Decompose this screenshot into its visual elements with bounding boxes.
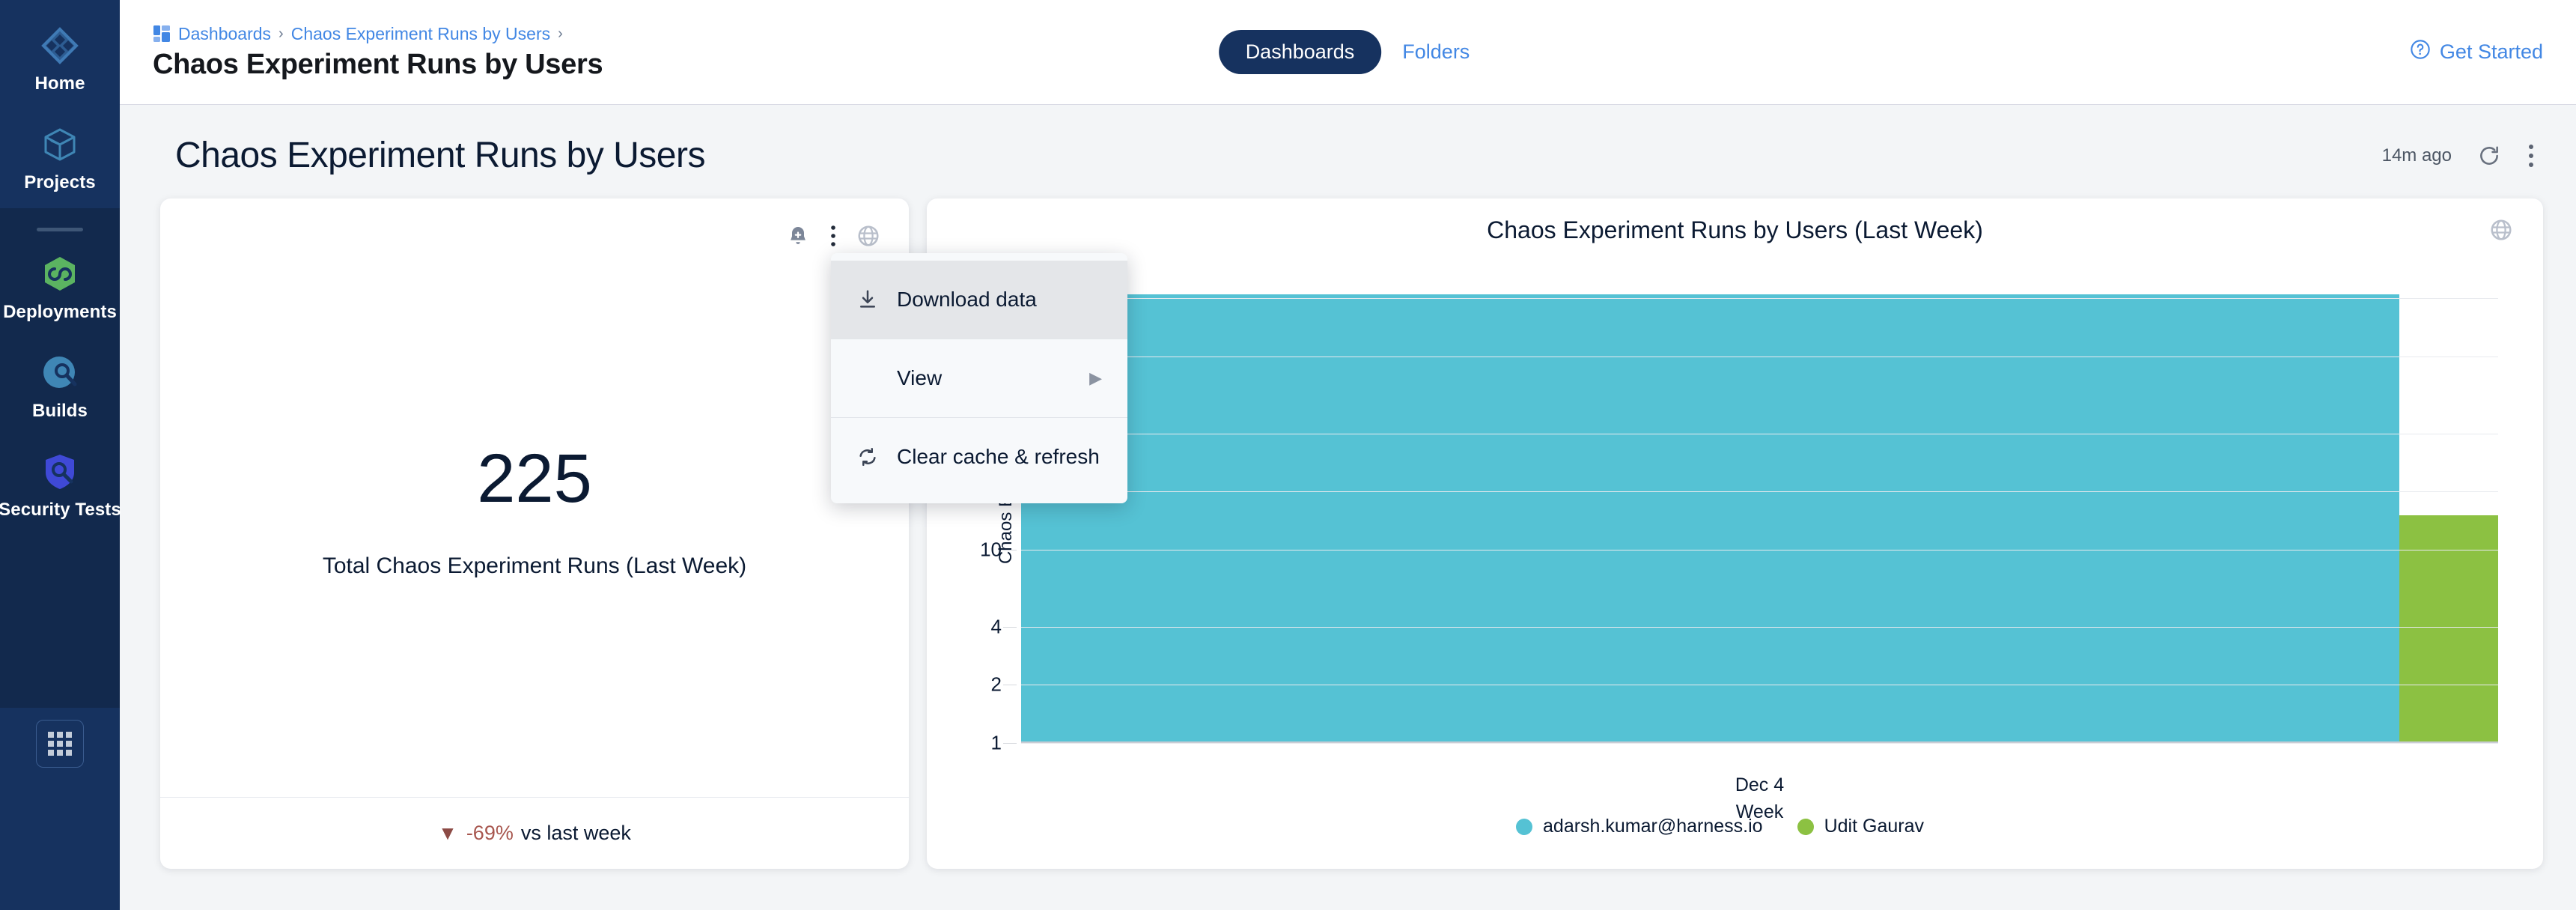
kpi-body: 225 Total Chaos Experiment Runs (Last We… bbox=[160, 255, 909, 797]
grid-apps-icon bbox=[48, 732, 72, 756]
legend-label: adarsh.kumar@harness.io bbox=[1543, 816, 1763, 837]
chart-gridline bbox=[1021, 491, 2498, 492]
legend-color-swatch bbox=[1797, 819, 1814, 835]
chart-bar[interactable] bbox=[1021, 294, 2399, 741]
sidebar-item-security-tests[interactable]: Security Tests bbox=[0, 437, 120, 536]
legend-color-swatch bbox=[1516, 819, 1532, 835]
menu-item-view[interactable]: View ▶ bbox=[831, 339, 1127, 417]
sidebar-item-label: Builds bbox=[32, 401, 88, 422]
breadcrumb-separator: › bbox=[558, 25, 563, 43]
kpi-tile-toolbar bbox=[160, 198, 909, 255]
header-left: Dashboards › Chaos Experiment Runs by Us… bbox=[153, 24, 603, 81]
chart-plot-region: Chaos Experi 200100402010421Dec 4Week ad… bbox=[927, 255, 2543, 869]
sidebar-item-deployments[interactable]: Deployments bbox=[0, 239, 120, 338]
menu-item-label: View bbox=[897, 366, 942, 390]
tab-folders[interactable]: Folders bbox=[1395, 30, 1477, 74]
sidebar-module-nav: Deployments Builds bbox=[0, 208, 120, 708]
builds-circle-icon bbox=[38, 351, 82, 395]
chart-ytick-label: 2 bbox=[991, 673, 1021, 697]
breadcrumb-link-dashboards[interactable]: Dashboards bbox=[178, 24, 271, 44]
kpi-delta-text: vs last week bbox=[521, 822, 631, 845]
chart-gridline bbox=[1021, 685, 2498, 685]
chart-plot: Chaos Experi 200100402010421Dec 4Week bbox=[1021, 276, 2498, 743]
shield-icon bbox=[38, 450, 82, 494]
sidebar-collapse-toggle[interactable] bbox=[0, 536, 120, 565]
chart-gridline bbox=[1021, 434, 2498, 434]
tab-dashboards[interactable]: Dashboards bbox=[1219, 30, 1382, 74]
chart-gridline bbox=[1021, 357, 2498, 357]
kpi-comparison: ▼ -69% vs last week bbox=[160, 797, 909, 869]
get-started-label: Get Started bbox=[2440, 40, 2543, 64]
sidebar-item-builds[interactable]: Builds bbox=[0, 338, 120, 437]
legend-item[interactable]: Udit Gaurav bbox=[1797, 816, 1924, 837]
kpi-value: 225 bbox=[477, 444, 592, 513]
refresh-cycle-icon bbox=[856, 446, 891, 468]
sidebar-divider bbox=[0, 208, 120, 239]
dashboard-content: Chaos Experiment Runs by Users 14m ago bbox=[120, 105, 2576, 910]
kpi-tile: 225 Total Chaos Experiment Runs (Last We… bbox=[160, 198, 909, 869]
main-sidebar: Home Projects bbox=[0, 0, 120, 910]
chart-gridline bbox=[1021, 743, 2498, 744]
breadcrumb-separator: › bbox=[278, 25, 284, 43]
alert-bell-plus-icon[interactable] bbox=[786, 224, 810, 248]
menu-item-label: Download data bbox=[897, 288, 1037, 312]
cube-icon bbox=[38, 123, 82, 166]
breadcrumb: Dashboards › Chaos Experiment Runs by Us… bbox=[153, 24, 603, 44]
help-circle-icon bbox=[2410, 39, 2431, 65]
chart-ytick-label: 1 bbox=[991, 732, 1021, 755]
sidebar-item-label: Security Tests bbox=[0, 500, 121, 521]
page-title: Chaos Experiment Runs by Users bbox=[153, 49, 603, 81]
dashboard-title: Chaos Experiment Runs by Users bbox=[175, 135, 705, 176]
kpi-delta-value: -69% bbox=[466, 822, 514, 845]
download-icon bbox=[856, 288, 891, 311]
chart-gridline bbox=[1021, 550, 2498, 550]
dashboard-actions: 14m ago bbox=[2382, 143, 2536, 169]
chart-tile-toolbar: Chaos Experiment Runs by Users (Last Wee… bbox=[927, 198, 2543, 255]
legend-label: Udit Gaurav bbox=[1824, 816, 1924, 837]
header-tabs: Dashboards Folders bbox=[1219, 30, 1478, 74]
refresh-icon[interactable] bbox=[2477, 144, 2501, 168]
deployments-hex-icon bbox=[38, 252, 82, 296]
sidebar-apps-row bbox=[0, 708, 120, 910]
sidebar-item-label: Deployments bbox=[3, 302, 117, 323]
apps-launcher-button[interactable] bbox=[36, 720, 84, 768]
kebab-menu-icon[interactable] bbox=[2527, 143, 2536, 169]
breadcrumb-link-current[interactable]: Chaos Experiment Runs by Users bbox=[291, 24, 550, 44]
tile-context-menu: Download data View ▶ bbox=[831, 253, 1127, 503]
dashboard-header: Chaos Experiment Runs by Users 14m ago bbox=[153, 105, 2543, 198]
last-refreshed-label: 14m ago bbox=[2382, 145, 2452, 166]
chevron-right-icon: ▶ bbox=[1089, 368, 1102, 388]
chart-tile: Chaos Experiment Runs by Users (Last Wee… bbox=[927, 198, 2543, 869]
chart-legend: adarsh.kumar@harness.io Udit Gaurav bbox=[927, 816, 2513, 837]
tiles-row: 225 Total Chaos Experiment Runs (Last We… bbox=[153, 198, 2543, 869]
top-header: Dashboards › Chaos Experiment Runs by Us… bbox=[120, 0, 2576, 105]
chart-ytick-label: 10 bbox=[980, 539, 1021, 562]
dashboards-grid-icon bbox=[153, 25, 171, 43]
app-root: Home Projects bbox=[0, 0, 2576, 910]
globe-icon[interactable] bbox=[2489, 218, 2513, 242]
chart-bar[interactable] bbox=[2399, 515, 2498, 741]
sidebar-item-label: Home bbox=[34, 73, 85, 94]
home-diamond-icon bbox=[38, 24, 82, 67]
kebab-menu-icon[interactable] bbox=[829, 225, 837, 247]
globe-icon[interactable] bbox=[856, 224, 880, 248]
sidebar-item-home[interactable]: Home bbox=[0, 10, 120, 109]
sidebar-item-label: Projects bbox=[24, 172, 96, 193]
get-started-button[interactable]: Get Started bbox=[2410, 39, 2543, 65]
menu-item-label: Clear cache & refresh bbox=[897, 445, 1100, 469]
menu-item-download-data[interactable]: Download data bbox=[831, 261, 1127, 339]
legend-item[interactable]: adarsh.kumar@harness.io bbox=[1516, 816, 1763, 837]
chart-gridline bbox=[1021, 298, 2498, 299]
kpi-label: Total Chaos Experiment Runs (Last Week) bbox=[323, 553, 746, 579]
trend-down-icon: ▼ bbox=[438, 822, 457, 845]
sidebar-item-projects[interactable]: Projects bbox=[0, 109, 120, 208]
chart-gridline bbox=[1021, 627, 2498, 628]
chart-ytick-label: 4 bbox=[991, 615, 1021, 638]
chart-title: Chaos Experiment Runs by Users (Last Wee… bbox=[927, 216, 2543, 244]
chart-bars bbox=[1021, 276, 2498, 741]
sidebar-primary-nav: Home Projects bbox=[0, 0, 120, 208]
menu-item-clear-cache-refresh[interactable]: Clear cache & refresh bbox=[831, 418, 1127, 496]
main-region: Dashboards › Chaos Experiment Runs by Us… bbox=[120, 0, 2576, 910]
